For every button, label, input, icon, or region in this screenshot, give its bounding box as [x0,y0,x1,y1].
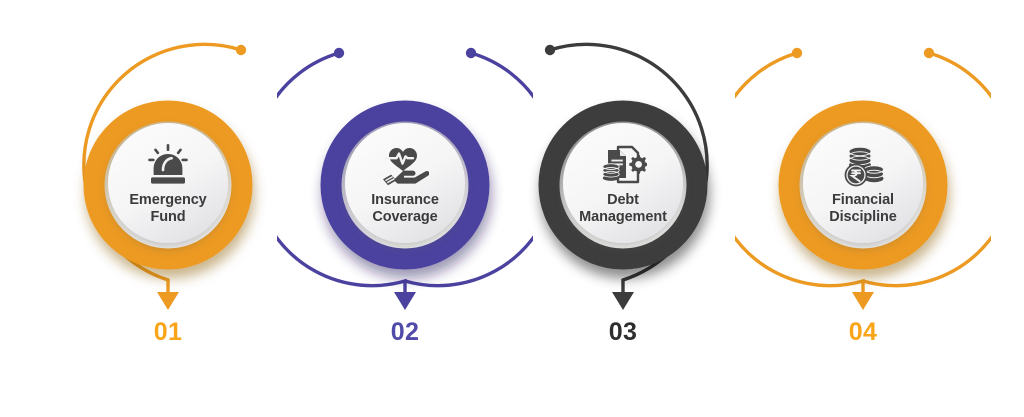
step-number-1: 01 [154,318,183,346]
step-number-4: 04 [849,318,878,346]
inner-disc-3 [563,123,683,243]
step-debt-management[interactable]: Debt Management 03 [495,0,751,417]
step-graphic-3 [495,0,751,417]
inner-disc-2 [345,123,465,243]
step-financial-discipline[interactable]: Financial Discipline 04 [735,0,991,417]
step-graphic-1 [40,0,296,417]
step-number-2: 02 [391,318,420,346]
infographic-canvas: Emergency Fund 01 [0,0,1024,417]
inner-disc-1 [108,123,228,243]
step-graphic-4 [735,0,991,417]
step-emergency-fund[interactable]: Emergency Fund 01 [40,0,296,417]
step-number-3: 03 [609,318,638,346]
inner-disc-4 [803,123,923,243]
